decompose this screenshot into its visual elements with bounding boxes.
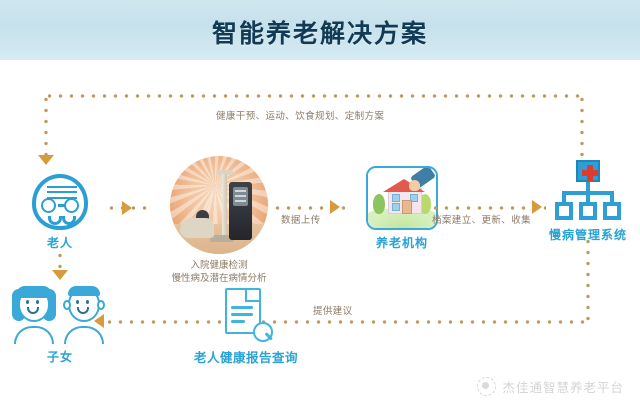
report-corner-fold-icon (245, 288, 259, 302)
girl-bangs-icon (16, 286, 52, 298)
connector-label-top: 健康干预、运动、饮食规划、定制方案 (216, 108, 384, 122)
connector-bottom-right-vertical (586, 236, 590, 322)
connector-label-advice: 提供建议 (313, 303, 353, 317)
health-kiosk-icon (229, 182, 252, 240)
red-cross-horizontal (582, 170, 598, 176)
connector-arrow-archive (532, 200, 542, 214)
report-text-line-1 (231, 306, 253, 309)
connector-elderly-to-children (58, 250, 62, 272)
node-health-checkup[interactable]: 入院健康检测 慢性病及潜在病情分析 (154, 156, 284, 285)
node-children-label: 子女 (12, 348, 108, 365)
connector-top-left-vertical (44, 94, 48, 156)
node-elderly-label: 老人 (14, 234, 106, 251)
checkup-caption-line1: 入院健康检测 (154, 259, 284, 272)
connector-arrow-left-to-children (94, 314, 104, 328)
magnifier-icon (253, 322, 273, 342)
report-text-line-2 (231, 313, 253, 316)
height-meter-icon (222, 174, 227, 236)
elderly-face-icon (32, 174, 88, 230)
boy-ear-left-icon (63, 300, 71, 310)
system-node-box-2 (579, 202, 597, 220)
patient-body-icon (180, 218, 214, 238)
boy-eye-right-icon (86, 300, 89, 304)
elderly-eye-right-icon (64, 198, 79, 213)
connector-arrow-down-to-children (52, 270, 68, 280)
page-title: 智能养老解决方案 (0, 14, 640, 50)
boy-ear-right-icon (97, 300, 105, 310)
page-header: 智能养老解决方案 (0, 0, 640, 60)
connector-institution-to-system (430, 206, 546, 210)
caring-hand-icon (409, 180, 420, 191)
elderly-glasses-bridge-icon (58, 204, 66, 207)
checkup-caption-line2: 慢性病及潜在病情分析 (154, 272, 284, 285)
house-window-1 (392, 194, 400, 202)
node-health-report-label: 老人健康报告查询 (182, 347, 310, 366)
magnifier-handle-icon (265, 332, 273, 340)
girl-eye-left-icon (26, 300, 29, 304)
infographic-root: 智能养老解决方案 健康干预、运动、饮食规划、定制方案 老人 (0, 0, 640, 404)
tree-left-icon (373, 194, 385, 214)
elderly-mustache-icon (48, 216, 76, 225)
girl-body-icon (14, 326, 54, 344)
watermark-text: 杰佳通智慧养老平台 (502, 377, 624, 396)
boy-body-icon (64, 326, 104, 344)
checkup-caption: 入院健康检测 慢性病及潜在病情分析 (154, 259, 284, 285)
node-health-report[interactable]: 老人健康报告查询 (182, 288, 310, 366)
health-checkup-photo (170, 156, 268, 254)
patient-figure-icon (180, 210, 216, 238)
connector-bottom-horizontal (104, 320, 588, 324)
boy-hair-icon (68, 286, 100, 296)
connector-arrow-upload (330, 200, 340, 214)
watermark: 杰佳通智慧养老平台 (477, 377, 624, 396)
connector-arrow-elderly-to-checkup (122, 201, 132, 215)
chronic-disease-system-icon (552, 160, 624, 222)
diagram-canvas: 健康干预、运动、饮食规划、定制方案 老人 (0, 60, 640, 404)
child-girl-icon (12, 286, 56, 344)
connector-label-upload: 数据上传 (281, 212, 321, 226)
document-search-icon (219, 288, 273, 344)
system-node-box-1 (555, 202, 573, 220)
connector-label-archive: 档案建立、更新、收集 (432, 212, 531, 226)
kiosk-screen-icon (233, 187, 248, 206)
brand-logo-icon (477, 377, 496, 396)
house-window-2 (392, 203, 400, 211)
connector-arrow-down-to-elderly (38, 155, 54, 165)
boy-eye-left-icon (76, 300, 79, 304)
system-node-box-3 (603, 202, 621, 220)
girl-eye-right-icon (36, 300, 39, 304)
connector-top-horizontal (44, 94, 584, 98)
elderly-hair-icon (47, 186, 77, 199)
elderly-eye-left-icon (41, 198, 56, 213)
node-chronic-system[interactable]: 慢病管理系统 (546, 160, 630, 243)
house-door-icon (402, 200, 412, 214)
node-institution-label: 养老机构 (352, 234, 452, 251)
care-house-icon (366, 166, 438, 230)
system-medical-badge-icon (576, 160, 600, 182)
report-text-line-3 (231, 320, 245, 323)
node-elderly[interactable]: 老人 (14, 174, 106, 251)
connector-top-right-vertical (580, 94, 584, 156)
